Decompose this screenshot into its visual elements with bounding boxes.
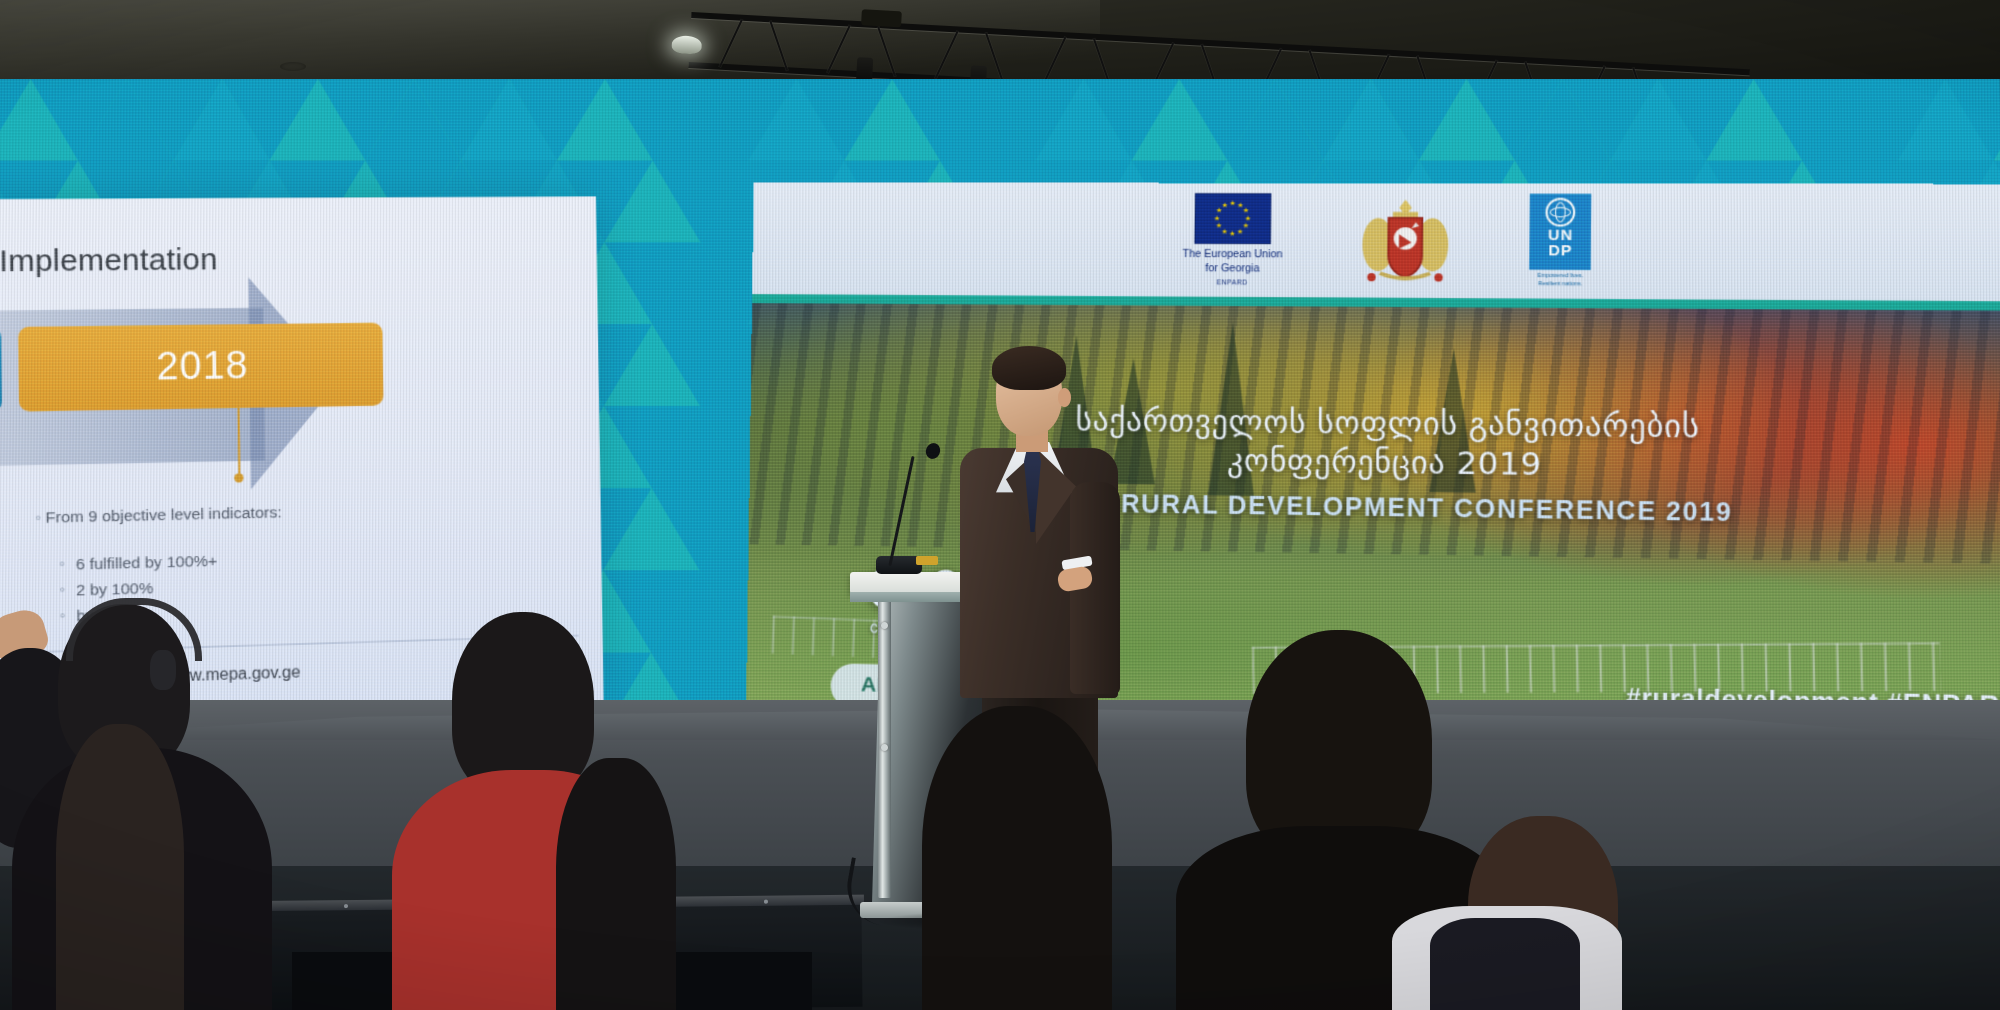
globe-icon [1546, 198, 1576, 227]
conference-hall-scene: ults of the Strategy Implementation 2017… [0, 0, 2000, 1010]
column-2017-heading: r level indicators: [0, 507, 25, 541]
eu-star-icon: ★ [1243, 208, 1250, 215]
truss-camera [861, 9, 902, 27]
audience-shoulders [1430, 918, 1580, 1010]
audience-head [452, 612, 594, 796]
undp-mark: UN DP [1530, 194, 1592, 270]
eu-star-icon: ★ [1229, 231, 1236, 238]
headphone-earcup [150, 650, 176, 690]
podium-post [878, 598, 891, 898]
eu-star-icon: ★ [1245, 215, 1252, 222]
eu-star-icon: ★ [1216, 223, 1223, 230]
eu-star-icon: ★ [1243, 223, 1250, 230]
eu-star-icon: ★ [1222, 202, 1229, 209]
microphone-indicator [916, 556, 938, 565]
presenter-hair [992, 346, 1066, 390]
spotlight-icon [671, 35, 702, 55]
undp-logo: UN DP Empowered lives. Resilient nations… [1530, 194, 1592, 288]
audience-head [56, 724, 184, 1010]
georgia-coat-of-arms-logo [1349, 193, 1463, 288]
eu-star-icon: ★ [1237, 229, 1244, 236]
triangle-tile [1993, 79, 2000, 161]
eu-star-icon: ★ [1229, 200, 1236, 207]
slide-title: ults of the Strategy Implementation [0, 243, 218, 282]
logo-bar: ★★★★★★★★★★★★ The European Union for Geor… [752, 182, 2000, 301]
enpard-caption: ENPARD [1217, 279, 1248, 286]
eu-flag-icon: ★★★★★★★★★★★★ [1194, 194, 1271, 245]
eu-caption: The European Union for Georgia [1182, 248, 1282, 275]
undp-caption: Empowered lives. Resilient nations. [1537, 273, 1583, 288]
presenter-ear [1058, 388, 1071, 407]
ceiling-vent [280, 62, 306, 71]
triangle-tile [1945, 79, 2000, 161]
column-2018-heading: ◦ From 9 objective level indicators: [35, 497, 470, 531]
year-badge-2018: 2018 [18, 323, 383, 412]
timeline-dot-2018 [234, 473, 243, 482]
audience-head [922, 706, 1112, 1010]
european-union-logo: ★★★★★★★★★★★★ The European Union for Geor… [1182, 194, 1283, 287]
eu-star-icon: ★ [1214, 215, 1221, 222]
audience-head [556, 758, 676, 1010]
